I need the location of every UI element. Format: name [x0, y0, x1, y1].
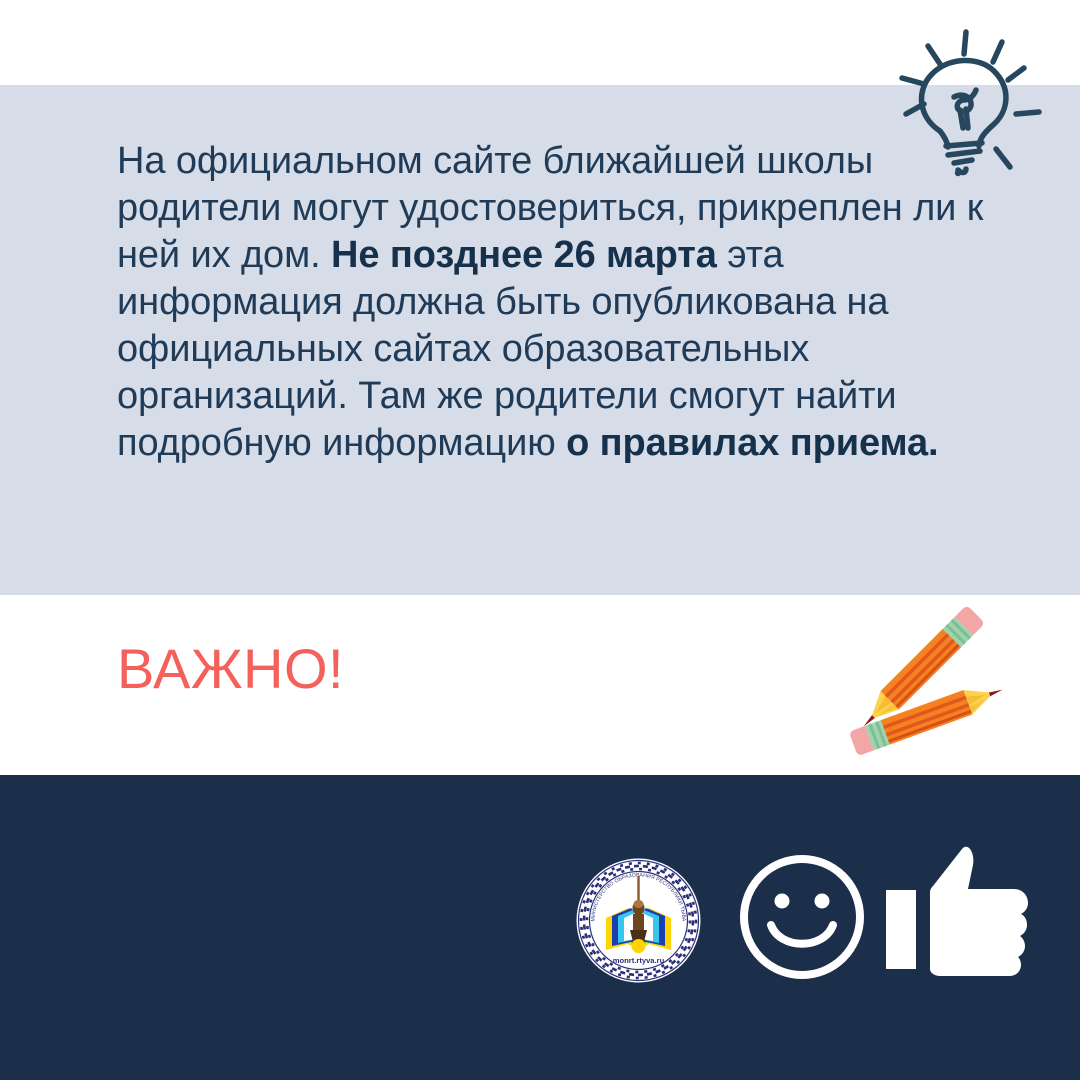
emblem-site-text: monrt.rtyva.ru — [613, 956, 665, 965]
footer-icon-group: МИНИСТЕРСТВО ОБРАЗОВАНИЯ РЕСПУБЛИКИ ТЫВА… — [576, 843, 1026, 993]
thumbs-up-icon — [884, 843, 1029, 993]
body-segment-2-bold: Не позднее 26 марта — [331, 234, 717, 276]
important-label: ВАЖНО! — [117, 637, 344, 701]
body-paragraph: На официальном сайте ближайшей школы род… — [117, 138, 997, 467]
ministry-of-education-tuva-emblem: МИНИСТЕРСТВО ОБРАЗОВАНИЯ РЕСПУБЛИКИ ТЫВА… — [576, 858, 701, 983]
lightbulb-icon — [884, 24, 1056, 184]
body-segment-4-bold: о правилах приема. — [566, 422, 938, 464]
pencils-illustration — [840, 605, 1020, 760]
smiley-face-icon — [736, 851, 868, 983]
poster-root: На официальном сайте ближайшей школы род… — [0, 0, 1080, 1080]
